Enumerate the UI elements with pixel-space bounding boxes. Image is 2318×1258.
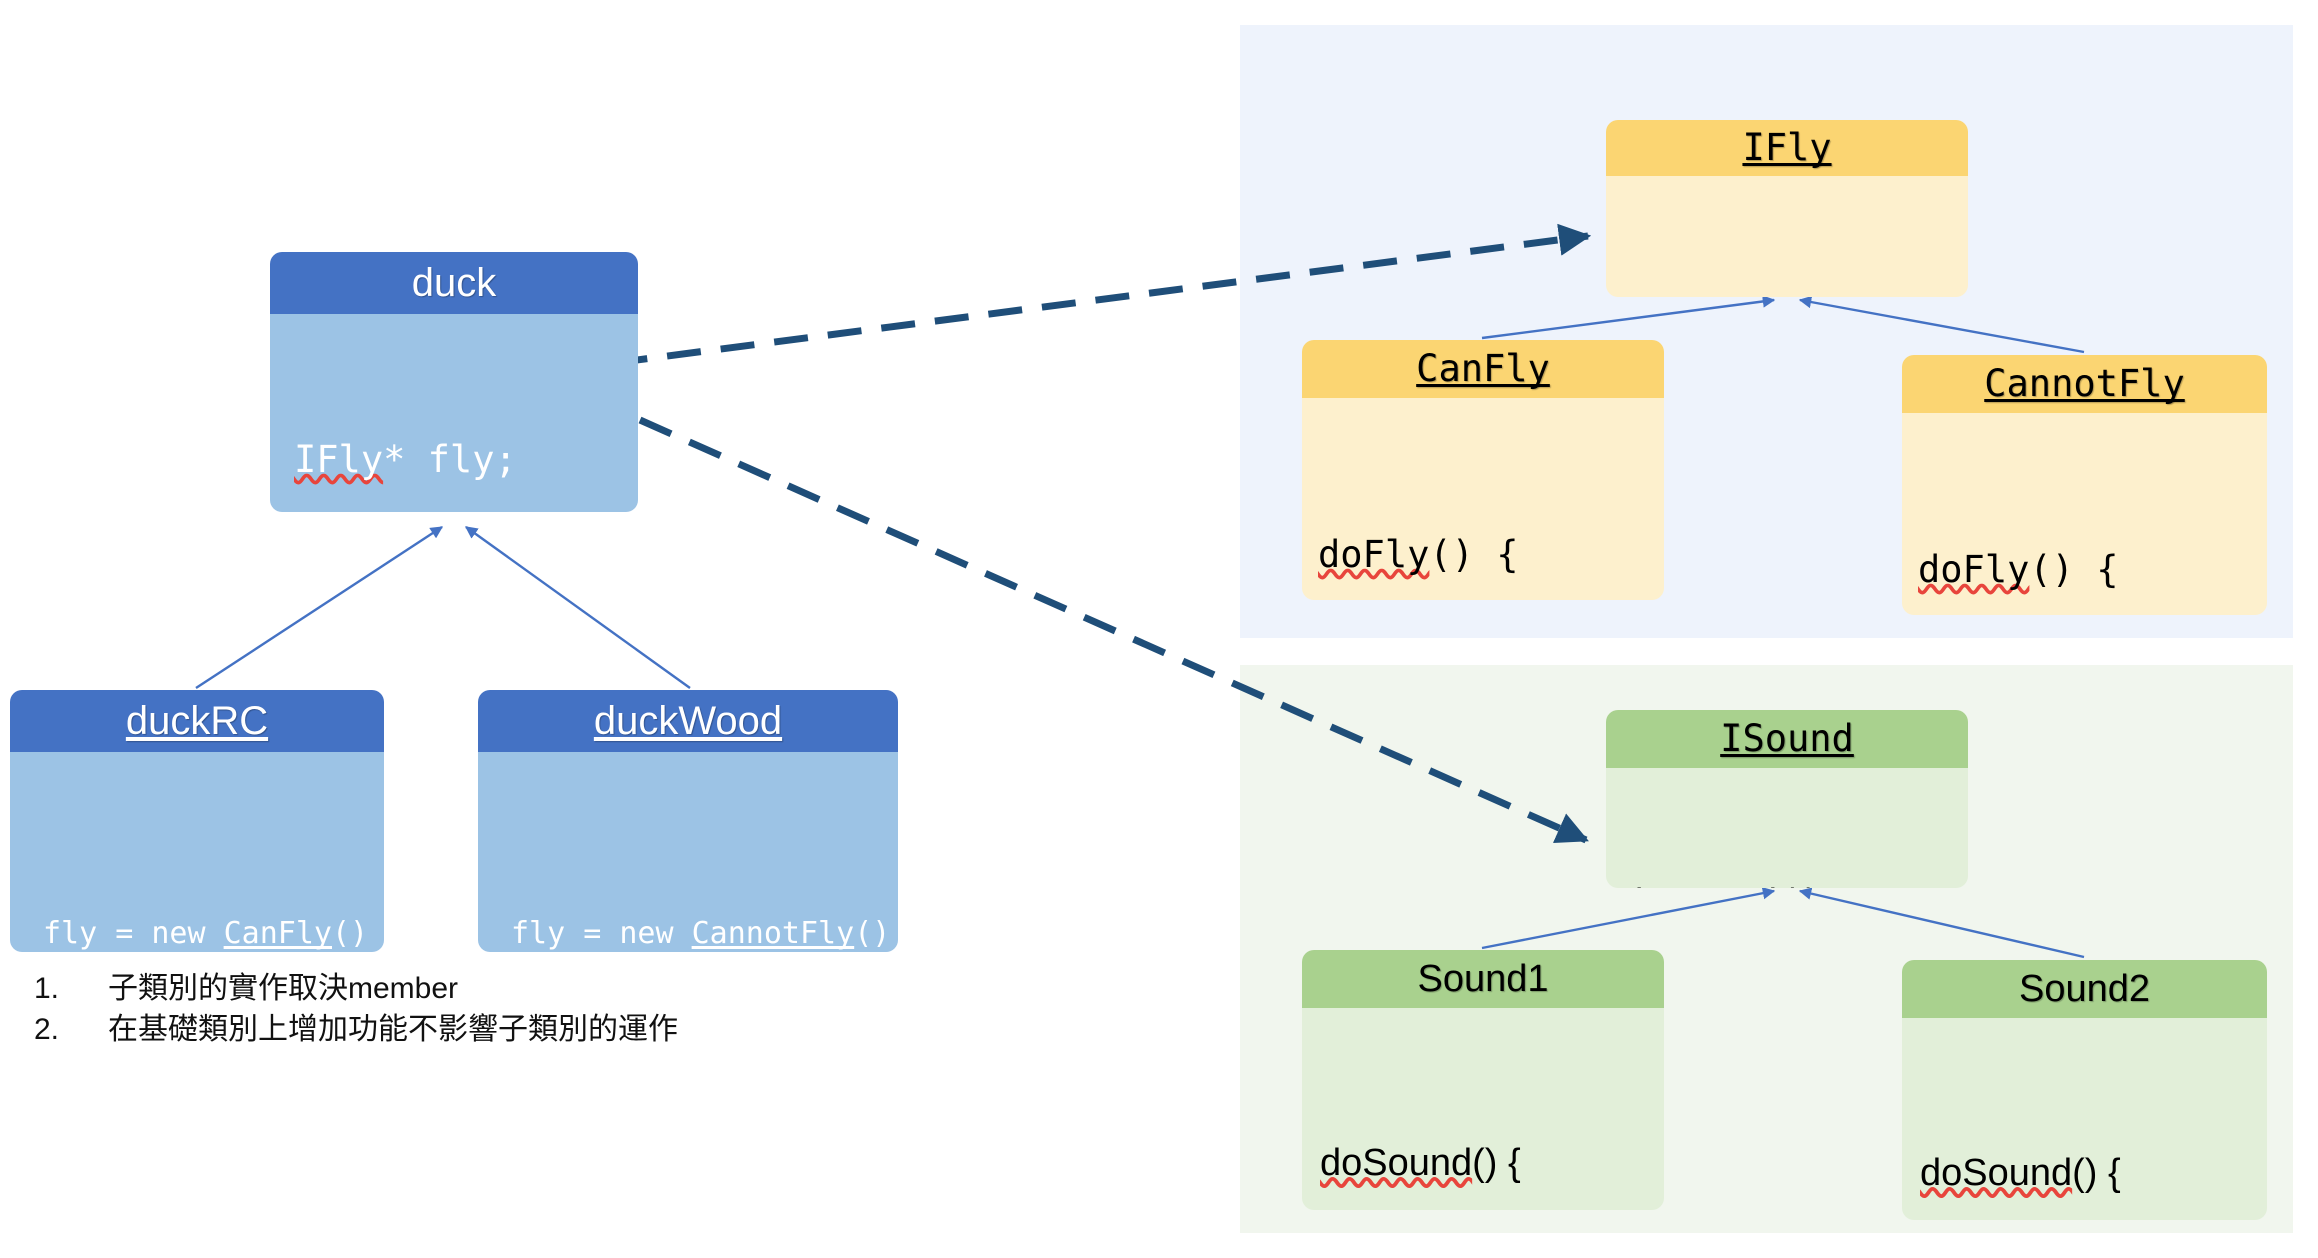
member-line: IFly* fly; <box>294 434 638 486</box>
class-title-duckwood: duckWood <box>478 690 898 752</box>
member-line: doSound() <box>1622 878 1968 888</box>
member-line: doFly() { <box>1918 545 2267 595</box>
member-line: doSound() { <box>1920 1148 2267 1198</box>
class-members-cannotfly: doFly() { “Cannot fly” } <box>1902 413 2267 615</box>
connector-duckrc-inherits-duck <box>196 527 442 688</box>
list-item-text: 子類別的實作取決member <box>108 968 854 1009</box>
member-line: fly = new CannotFly() <box>511 914 898 952</box>
member-line: doSound() { <box>1320 1138 1664 1188</box>
member-line: fly = new CanFly() <box>43 914 384 952</box>
class-box-cannotfly[interactable]: CannotFly doFly() { “Cannot fly” } <box>1902 355 2267 615</box>
class-box-sound2[interactable]: Sound2 doSound() { “Sound2” } <box>1902 960 2267 1220</box>
class-members-sound1: doSound() { “Sound1” } <box>1302 1008 1664 1210</box>
class-members-isound: doSound() … <box>1606 768 1968 888</box>
list-item-text: 在基礎類別上增加功能不影響子類別的運作 <box>108 1009 854 1050</box>
class-box-duckwood[interactable]: duckWood fly = new CannotFly() <box>478 690 898 952</box>
class-box-duck[interactable]: duck IFly* fly; Isound* sound; … <box>270 252 638 512</box>
class-title-sound1: Sound1 <box>1302 950 1664 1008</box>
class-title-duckrc: duckRC <box>10 690 384 752</box>
notes-list: 1. 子類別的實作取決member 2. 在基礎類別上增加功能不影響子類別的運作 <box>34 968 854 1050</box>
class-box-ifly[interactable]: IFly doFly() … <box>1606 120 1968 297</box>
list-item-number: 1. <box>34 968 108 1009</box>
class-members-ifly: doFly() … <box>1606 176 1968 297</box>
class-title-cannotfly: CannotFly <box>1902 355 2267 413</box>
class-title-sound2: Sound2 <box>1902 960 2267 1018</box>
connector-duckwood-inherits-duck <box>466 527 690 688</box>
class-members-duckrc: fly = new CanFly() <box>10 752 384 952</box>
class-members-duck: IFly* fly; Isound* sound; … <box>270 314 638 512</box>
member-line: doFly() { <box>1318 530 1664 580</box>
class-box-canfly[interactable]: CanFly doFly() { “Can fly” } <box>1302 340 1664 600</box>
class-box-duckrc[interactable]: duckRC fly = new CanFly() <box>10 690 384 952</box>
list-item: 2. 在基礎類別上增加功能不影響子類別的運作 <box>34 1009 854 1050</box>
class-box-isound[interactable]: ISound doSound() … <box>1606 710 1968 888</box>
class-members-duckwood: fly = new CannotFly() <box>478 752 898 952</box>
class-title-isound: ISound <box>1606 710 1968 768</box>
member-line: doFly() <box>1622 288 1968 297</box>
class-box-sound1[interactable]: Sound1 doSound() { “Sound1” } <box>1302 950 1664 1210</box>
diagram-canvas: IFly (dependency, dashed) --> ISound (de… <box>0 0 2318 1258</box>
list-item-number: 2. <box>34 1009 108 1050</box>
class-members-sound2: doSound() { “Sound2” } <box>1902 1018 2267 1220</box>
class-members-canfly: doFly() { “Can fly” } <box>1302 398 1664 600</box>
class-title-ifly: IFly <box>1606 120 1968 176</box>
list-item: 1. 子類別的實作取決member <box>34 968 854 1009</box>
class-title-duck: duck <box>270 252 638 314</box>
class-title-canfly: CanFly <box>1302 340 1664 398</box>
